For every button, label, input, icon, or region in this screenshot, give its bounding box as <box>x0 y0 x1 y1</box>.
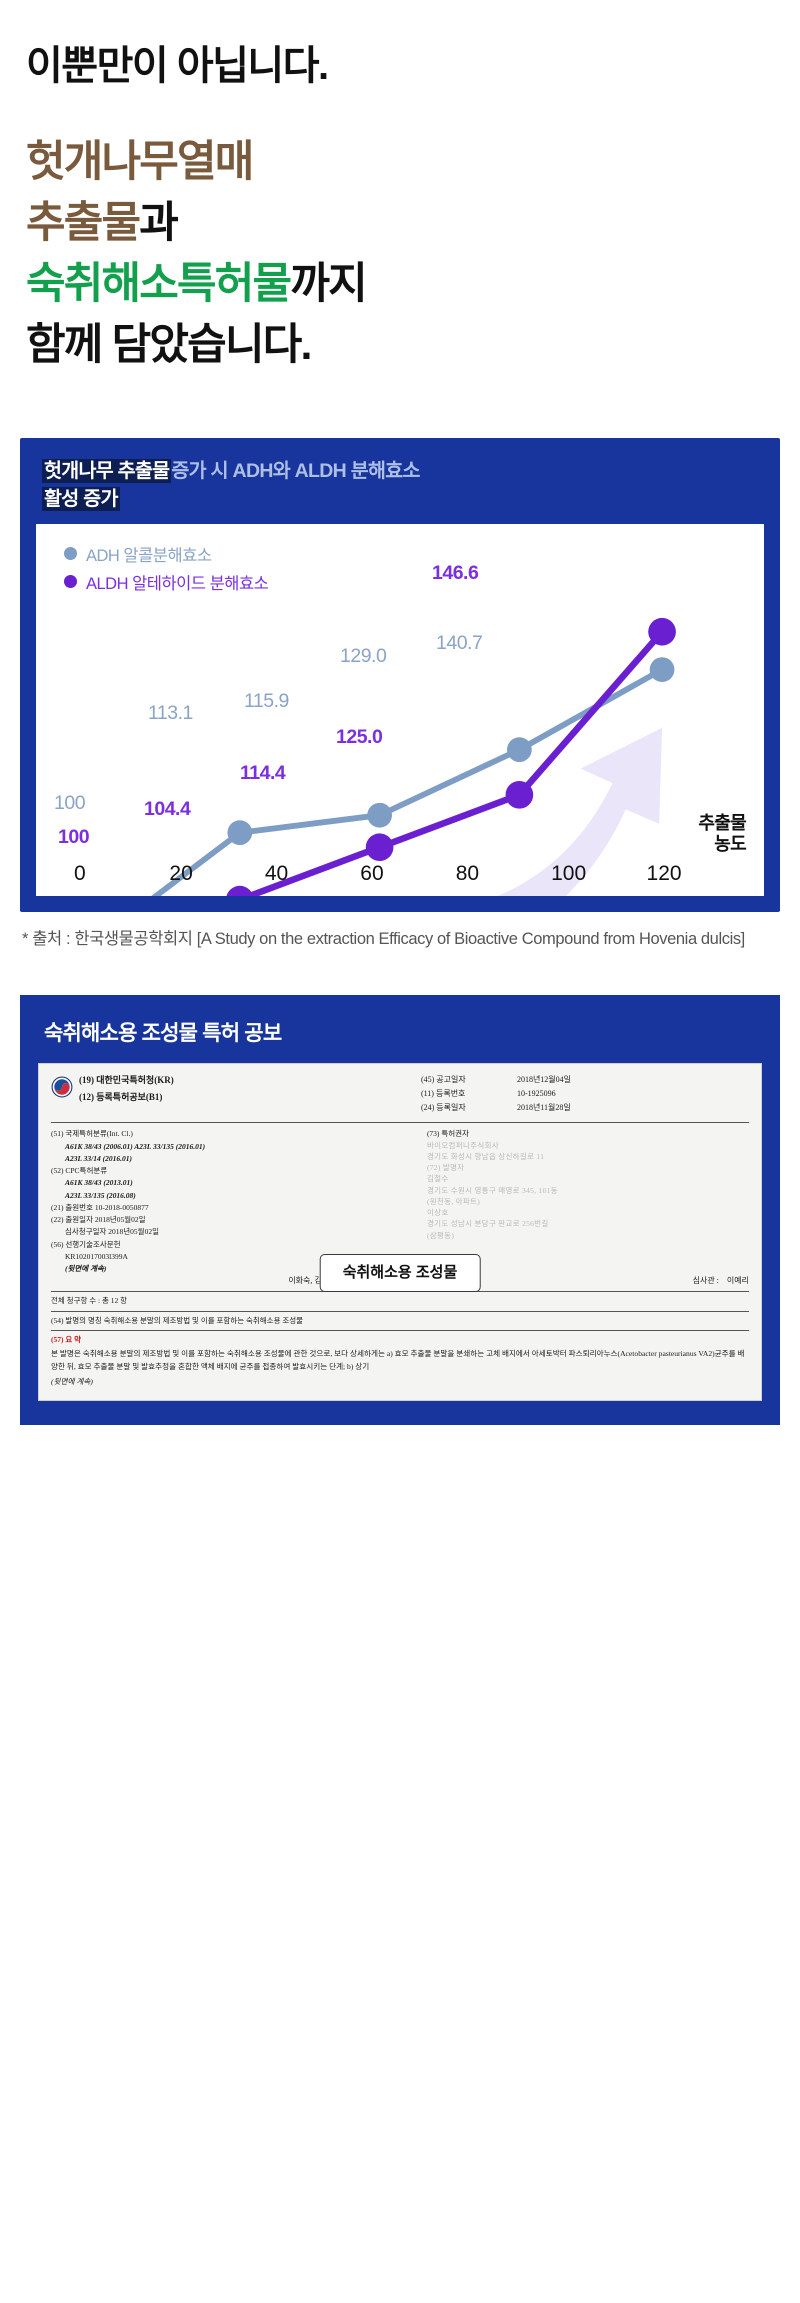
patent-meta-value-11: 10-1925096 <box>517 1088 556 1100</box>
x-axis-ticks: 0 20 40 60 80 100 120 <box>36 862 764 886</box>
patent-right-row-4: 김철수 <box>427 1173 749 1184</box>
x-tick-3: 60 <box>360 862 455 886</box>
chart-title: 헛개나무 추출물증가 시 ADH와 ALDH 분해효소 활성 증가 <box>36 456 764 523</box>
headline-line-2: 추출물과 <box>26 193 800 254</box>
headline-line-3-black: 까지 <box>290 260 366 308</box>
patent-abstract-body: 본 발명은 숙취해소용 분말의 제조방법 및 이를 포함하는 숙취해소용 조성물… <box>51 1348 749 1373</box>
patent-invention-title: (54) 발명의 명칭 숙취해소용 분말의 제조방법 및 이를 포함하는 숙취해… <box>51 1315 749 1326</box>
patent-right-row-9: (삼평동) <box>427 1230 749 1241</box>
chart-title-highlight-1: 헛개나무 추출물 <box>42 459 171 483</box>
legend-dot-icon-aldh <box>64 575 77 588</box>
patent-left-row-6: (21) 출원번호 10-2018-0050877 <box>51 1202 415 1213</box>
patent-examiner-name: 이예리 <box>727 1275 749 1287</box>
patent-meta-value-45: 2018년12월04일 <box>517 1074 571 1086</box>
patent-meta-label-11: (11) 등록번호 <box>421 1088 517 1100</box>
product-detail-page: 이뿐만이 아닙니다. 헛개나무열매 추출물과 숙취해소특허물까지 함께 담았습니… <box>0 0 800 1425</box>
patent-meta-row-24: (24) 등록일자 2018년11월28일 <box>421 1102 749 1114</box>
legend-label-adh: ADH 알콜분해효소 <box>86 542 212 566</box>
headline-lead: 이뿐만이 아닙니다. <box>26 44 800 88</box>
legend-label-aldh: ALDH 알테하이드 분해효소 <box>86 570 268 594</box>
legend-item-aldh: ALDH 알테하이드 분해효소 <box>64 570 268 594</box>
patent-doc-footer: 이화숙, 김덕만 심사관 : 이예리 전체 청구항 수 : 총 12 항 (54… <box>51 1275 749 1388</box>
data-label-adh-0: 100 <box>54 792 85 815</box>
source-note: * 출처 : 한국생물공학회지 [A Study on the extracti… <box>22 928 778 952</box>
headline-line-4-black: 함께 담았습니다. <box>26 321 311 369</box>
patent-right-row-8: 경기도 성남시 분당구 판교로 256번길 <box>427 1218 749 1229</box>
chart-card: 헛개나무 추출물증가 시 ADH와 ALDH 분해효소 활성 증가 ADH 알콜… <box>20 438 780 911</box>
patent-office-line: (19) 대한민국특허청(KR) <box>79 1074 174 1088</box>
x-tick-2: 40 <box>265 862 360 886</box>
data-label-aldh-3: 125.0 <box>336 726 382 749</box>
x-tick-6: 120 <box>647 862 742 886</box>
x-tick-5: 100 <box>551 862 646 886</box>
data-label-adh-3: 129.0 <box>340 645 386 668</box>
headline-line-4: 함께 담았습니다. <box>26 315 800 376</box>
patent-meta-label-45: (45) 공고일자 <box>421 1074 517 1086</box>
data-label-adh-4: 140.7 <box>436 632 482 655</box>
chart-title-highlight-2: 활성 증가 <box>42 487 120 511</box>
headline-line-1-brown: 헛개나무열매 <box>26 138 253 186</box>
chart-title-rest-1: 증가 시 ADH와 ALDH 분해효소 <box>171 460 419 482</box>
patent-left-row-2: A23L 33/14 (2016.01) <box>51 1153 415 1164</box>
patent-doc-divider-3 <box>51 1330 749 1331</box>
korea-emblem-icon <box>51 1076 73 1098</box>
patent-claims-count: 전체 청구항 수 : 총 12 항 <box>51 1295 749 1306</box>
patent-applicant-names: 이화숙, 김덕만 <box>51 1275 336 1287</box>
headline-block: 이뿐만이 아닙니다. 헛개나무열매 추출물과 숙취해소특허물까지 함께 담았습니… <box>0 0 800 376</box>
patent-gazette-line: (12) 등록특허공보(B1) <box>79 1091 174 1105</box>
headline-line-2-black: 과 <box>139 199 177 247</box>
patent-meta-row-11: (11) 등록번호 10-1925096 <box>421 1088 749 1100</box>
data-label-aldh-4: 146.6 <box>432 562 478 585</box>
data-label-aldh-2: 114.4 <box>240 762 285 785</box>
patent-left-row-4: A61K 38/43 (2013.01) <box>51 1177 415 1188</box>
patent-right-row-6: (원천동, 아파트) <box>427 1196 749 1207</box>
x-axis-caption-line1: 추출물 <box>698 813 746 834</box>
patent-overlay-callout: 숙취해소용 조성물 <box>320 1254 481 1293</box>
patent-document: (19) 대한민국특허청(KR) (12) 등록특허공보(B1) (45) 공고… <box>38 1063 762 1401</box>
patent-examiner-label: 심사관 : <box>693 1275 719 1287</box>
patent-meta-label-24: (24) 등록일자 <box>421 1102 517 1114</box>
patent-doc-header-left: (19) 대한민국특허청(KR) (12) 등록특허공보(B1) <box>51 1074 421 1116</box>
patent-doc-header: (19) 대한민국특허청(KR) (12) 등록특허공보(B1) (45) 공고… <box>51 1074 749 1123</box>
x-tick-4: 80 <box>456 862 551 886</box>
legend-item-adh: ADH 알콜분해효소 <box>64 542 268 566</box>
patent-left-row-7: (22) 출원일자 2018년05월02일 <box>51 1214 415 1225</box>
data-label-aldh-1: 104.4 <box>144 798 190 821</box>
patent-right-row-0: (73) 특허권자 <box>427 1128 749 1139</box>
legend-dot-icon-adh <box>64 547 77 560</box>
patent-abstract-heading: (57) 요 약 <box>51 1334 749 1345</box>
patent-meta-value-24: 2018년11월28일 <box>517 1102 571 1114</box>
patent-right-row-3: (72) 발명자 <box>427 1162 749 1173</box>
patent-doc-divider-2 <box>51 1311 749 1312</box>
patent-left-row-8: 심사청구일자 2018년05월02일 <box>51 1226 415 1237</box>
patent-right-row-5: 경기도 수원시 영통구 매영로 345, 101동 <box>427 1185 749 1196</box>
headline-line-1: 헛개나무열매 <box>26 132 800 193</box>
x-tick-0: 0 <box>74 862 169 886</box>
patent-left-row-5: A23L 33/135 (2016.08) <box>51 1190 415 1201</box>
patent-left-row-0: (51) 국제특허분류(Int. Cl.) <box>51 1128 415 1139</box>
patent-right-row-2: 경기도 화성시 향남읍 상신하길로 11 <box>427 1151 749 1162</box>
data-label-adh-2: 115.9 <box>244 690 289 713</box>
patent-right-row-7: 이상호 <box>427 1207 749 1218</box>
x-axis-caption: 추출물 농도 <box>698 813 746 855</box>
patent-left-row-3: (52) CPC특허분류 <box>51 1165 415 1176</box>
headline-line-3-green: 숙취해소특허물 <box>26 260 290 308</box>
x-axis-caption-line2: 농도 <box>698 834 746 855</box>
patent-card: 숙취해소용 조성물 특허 공보 (19) 대한민국특허청(KR) (12) 등록… <box>20 995 780 1425</box>
chart-plot-area: ADH 알콜분해효소 ALDH 알테하이드 분해효소 <box>36 524 764 896</box>
data-label-adh-1: 113.1 <box>148 702 193 725</box>
patent-meta-row-45: (45) 공고일자 2018년12월04일 <box>421 1074 749 1086</box>
headline-line-3: 숙취해소특허물까지 <box>26 254 800 315</box>
x-tick-1: 20 <box>169 862 264 886</box>
data-label-aldh-0: 100 <box>58 826 89 849</box>
headline-line-2-brown: 추출물 <box>26 199 139 247</box>
patent-card-title: 숙취해소용 조성물 특허 공보 <box>38 1015 762 1063</box>
patent-right-row-1: 바이오컴퍼니주식회사 <box>427 1140 749 1151</box>
patent-left-row-1: A61K 38/43 (2006.01) A23L 33/135 (2016.0… <box>51 1141 415 1152</box>
patent-abstract-continued: (뒷면에 계속) <box>51 1376 749 1388</box>
patent-doc-header-right: (45) 공고일자 2018년12월04일 (11) 등록번호 10-19250… <box>421 1074 749 1116</box>
chart-legend: ADH 알콜분해효소 ALDH 알테하이드 분해효소 <box>64 542 268 598</box>
patent-left-row-9: (56) 선행기술조사문헌 <box>51 1239 415 1250</box>
